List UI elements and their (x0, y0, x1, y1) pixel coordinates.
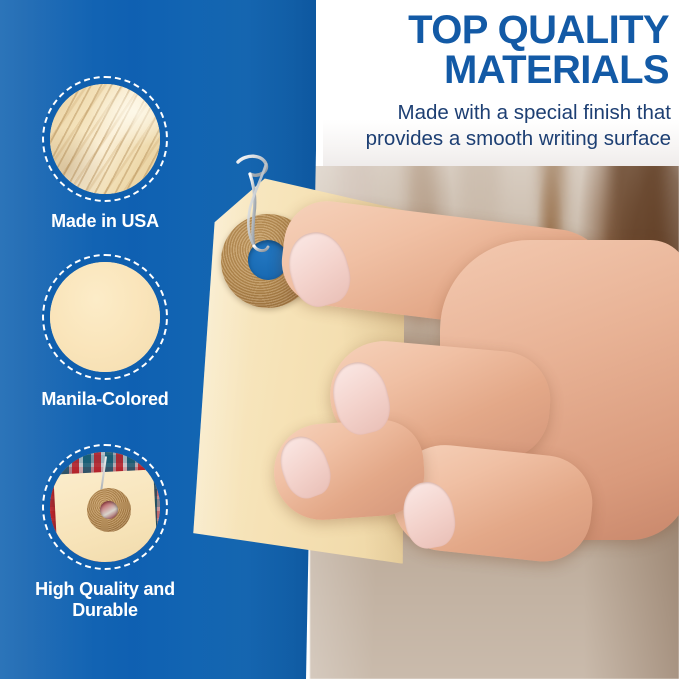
feature-label-manila-colored: Manila-Colored (5, 389, 205, 410)
feature-label-made-in-usa: Made in USA (5, 211, 205, 232)
dashed-ring-decoration (42, 76, 168, 202)
dashed-ring-decoration (42, 254, 168, 380)
hand-holding-tag (300, 150, 679, 679)
page-subtitle: Made with a special finish that provides… (309, 100, 671, 152)
headline-line-1: TOP QUALITY (408, 8, 669, 52)
feature-made-in-usa: Made in USA (5, 76, 205, 232)
badge-manila-colored (42, 254, 168, 380)
feature-label-line-2: Durable (72, 600, 138, 620)
feature-high-quality-durable: High Quality and Durable (5, 444, 205, 620)
badge-made-in-usa (42, 76, 168, 202)
feature-label-high-quality-durable: High Quality and Durable (5, 579, 205, 620)
headline-line-2: MATERIALS (317, 51, 669, 91)
infographic-canvas: TOP QUALITY MATERIALS Made with a specia… (0, 0, 679, 679)
subtitle-line-1: Made with a special finish that (398, 101, 671, 124)
feature-label-line-1: High Quality and (35, 579, 175, 599)
subtitle-line-2: provides a smooth writing surface (309, 126, 671, 152)
page-title: TOP QUALITY MATERIALS (317, 11, 669, 90)
feature-manila-colored: Manila-Colored (5, 254, 205, 410)
dashed-ring-decoration (42, 444, 168, 570)
badge-high-quality-durable (42, 444, 168, 570)
